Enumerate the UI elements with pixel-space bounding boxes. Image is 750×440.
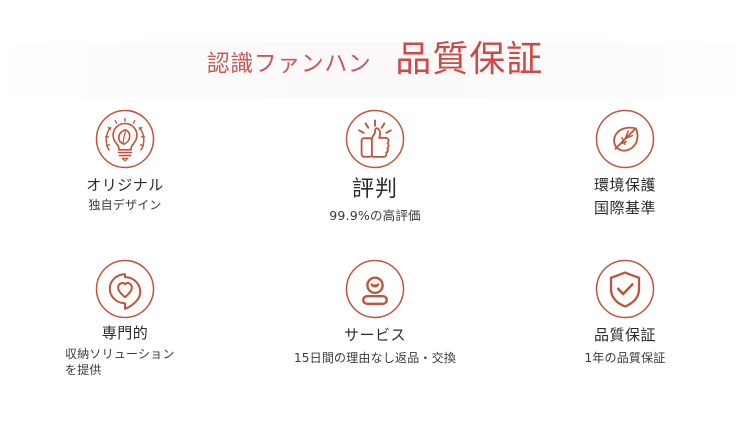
feature-title: 品質保証 xyxy=(584,326,665,345)
thumbs-up-icon xyxy=(344,108,406,170)
feature-title: 評判 xyxy=(329,176,421,204)
feature-subtitle: 1年の品質保証 xyxy=(584,351,665,366)
feature-row-bottom: 専門的 収納ソリューションを提供 xyxy=(0,258,750,408)
feature-item-professional: 専門的 収納ソリューションを提供 xyxy=(0,258,250,408)
leaf-icon xyxy=(594,108,656,170)
feature-subtitle: 99.9%の高評価 xyxy=(329,208,421,224)
title-subtext: 認識ファンハン xyxy=(207,53,372,76)
feature-subtitle: 収納ソリューションを提供 xyxy=(65,346,185,378)
feature-labels: 品質保証 1年の品質保証 xyxy=(584,326,665,366)
feature-title: サービス xyxy=(294,326,456,345)
feature-labels: サービス 15日間の理由なし返品・交換 xyxy=(294,326,456,366)
feature-labels: 評判 99.9%の高評価 xyxy=(329,176,421,223)
feature-item-reputation: 評判 99.9%の高評価 xyxy=(250,108,500,258)
banner-title: 認識ファンハン 品質保証 xyxy=(0,42,750,98)
customer-service-person-icon xyxy=(344,258,406,320)
feature-title: 環境保護 xyxy=(594,176,656,195)
shield-check-icon xyxy=(594,258,656,320)
feature-item-original: オリジナル 独自デザイン xyxy=(0,108,250,258)
feature-grid: オリジナル 独自デザイン xyxy=(0,108,750,408)
feature-title: オリジナル xyxy=(86,176,164,195)
feature-labels: 専門的 収納ソリューションを提供 xyxy=(65,324,185,378)
feature-title: 専門的 xyxy=(65,324,185,343)
feature-subtitle: 国際基準 xyxy=(594,199,656,218)
feature-subtitle: 独自デザイン xyxy=(86,198,164,213)
feature-subtitle: 15日間の理由なし返品・交換 xyxy=(294,351,456,366)
speech-bubble-heart-icon xyxy=(94,258,156,320)
feature-item-quality-guarantee: 品質保証 1年の品質保証 xyxy=(500,258,750,408)
feature-item-environment: 環境保護 国際基準 xyxy=(500,108,750,258)
feature-item-service: サービス 15日間の理由なし返品・交換 xyxy=(250,258,500,408)
lightbulb-leaf-icon xyxy=(94,108,156,170)
feature-row-top: オリジナル 独自デザイン xyxy=(0,108,750,258)
feature-labels: 環境保護 国際基準 xyxy=(594,176,656,218)
feature-labels: オリジナル 独自デザイン xyxy=(86,176,164,213)
title-maintext: 品質保証 xyxy=(395,42,543,78)
quality-assurance-banner: 認識ファンハン 品質保証 xyxy=(0,0,750,440)
